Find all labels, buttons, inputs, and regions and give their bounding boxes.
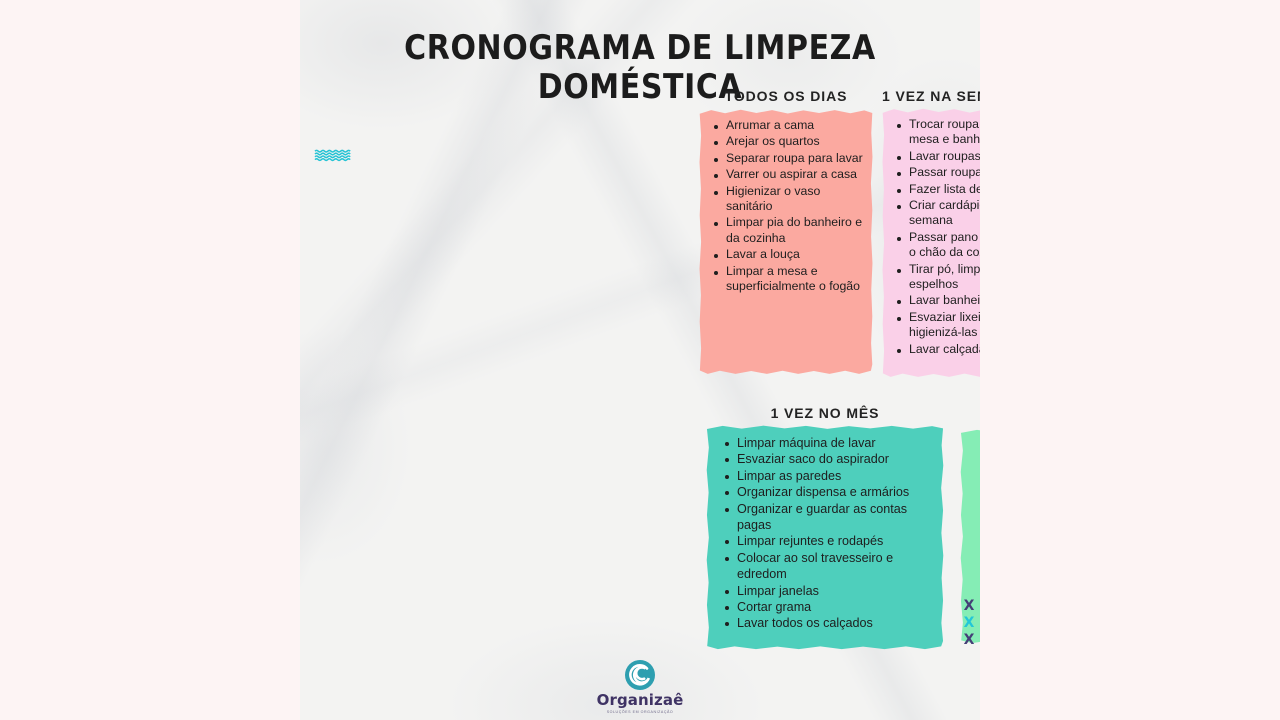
list-item: Organizar dispensa e armários (724, 484, 934, 500)
wavy-line-decoration-icon (314, 149, 352, 162)
x-mark-icon: X (959, 632, 979, 649)
list-item: Limpar as paredes (724, 468, 934, 484)
card-daily: Arrumar a cama Arejar os quartos Separar… (699, 109, 873, 375)
list-item: Arejar os quartos (713, 134, 863, 149)
list-item: Varrer ou aspirar a casa (713, 167, 863, 182)
list-item: Limpar rejuntes e rodapés (724, 533, 934, 549)
task-list-daily: Arrumar a cama Arejar os quartos Separar… (699, 109, 873, 294)
paper-background: CRONOGRAMA DE LIMPEZA DOMÉSTICA X X X TO… (300, 0, 980, 720)
list-item: Lavar todos os calçados (724, 615, 934, 631)
list-item: Arrumar a cama (713, 118, 863, 133)
list-item: Limpar janelas (724, 583, 934, 599)
brand-tagline: SOLUÇÕES EM ORGANIZAÇÃO (300, 710, 980, 714)
list-item: Colocar ao sol travesseiro e edredom (724, 550, 934, 583)
list-item: Cortar grama (724, 599, 934, 615)
section-header-monthly: 1 VEZ NO MÊS (706, 405, 944, 421)
list-item: Esvaziar saco do aspirador (724, 451, 934, 467)
organizae-spiral-logo-icon (623, 658, 657, 692)
infographic-canvas: CRONOGRAMA DE LIMPEZA DOMÉSTICA X X X TO… (0, 0, 1280, 720)
brand-name: Organizaê (300, 693, 980, 708)
card-monthly: Limpar máquina de lavar Esvaziar saco do… (706, 425, 944, 650)
list-item: Organizar e guardar as contas pagas (724, 501, 934, 534)
x-marks-decoration: X X X (959, 598, 979, 649)
page-title: CRONOGRAMA DE LIMPEZA DOMÉSTICA (300, 29, 980, 107)
section-header-daily: TODOS OS DIAS (699, 88, 873, 104)
x-mark-icon: X (959, 615, 979, 632)
x-mark-icon: X (959, 598, 979, 615)
list-item: Higienizar o vaso sanitário (713, 184, 863, 215)
letterbox-right (980, 0, 1280, 720)
brand-logo: Organizaê SOLUÇÕES EM ORGANIZAÇÃO (300, 658, 980, 714)
list-item: Limpar máquina de lavar (724, 435, 934, 451)
list-item: Separar roupa para lavar (713, 151, 863, 166)
list-item: Limpar a mesa e superficialmente o fogão (713, 264, 863, 295)
task-list-monthly: Limpar máquina de lavar Esvaziar saco do… (706, 425, 944, 632)
list-item: Limpar pia do banheiro e da cozinha (713, 215, 863, 246)
list-item: Lavar a louça (713, 247, 863, 262)
letterbox-left (0, 0, 300, 720)
